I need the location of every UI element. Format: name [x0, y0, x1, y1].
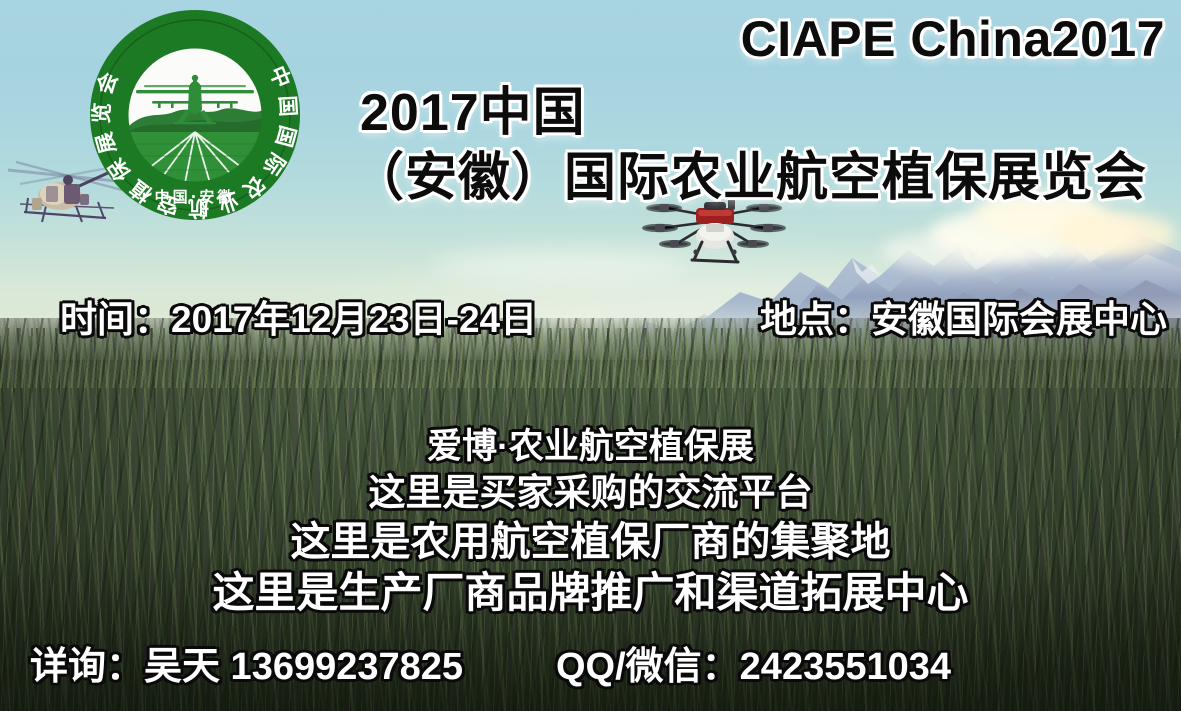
logo-bottom-text: 中国·安徽 — [155, 188, 236, 206]
event-poster: 中国国际农业航空植保展览会 中国·安徽 CIAPE China2017 2017… — [0, 0, 1181, 711]
slogan-line: 爱博·农业航空植保展 — [0, 429, 1181, 464]
poster-title-line-2: （安徽）国际农业航空植保展览会 — [352, 152, 1147, 204]
slogan-line: 这里是买家采购的交流平台 — [0, 474, 1181, 511]
slogan-line: 这里是农用航空植保厂商的集聚地 — [0, 522, 1181, 562]
poster-title-line-1: 2017中国 — [360, 87, 586, 139]
ciape-logo: 中国国际农业航空植保展览会 中国·安徽 — [86, 6, 304, 224]
slogan-line: 这里是生产厂商品牌推广和渠道拓展中心 — [0, 572, 1181, 614]
cloud — [1055, 212, 1175, 256]
event-date: 时间：2017年12月23日-24日 — [60, 301, 537, 338]
contact-qq: QQ/微信：2423551034 — [556, 648, 951, 686]
contact-phone: 详询：吴天 13699237825 — [30, 648, 463, 686]
event-location: 地点：安徽国际会展中心 — [760, 301, 1167, 338]
header-brand: CIAPE China2017 — [741, 14, 1165, 64]
